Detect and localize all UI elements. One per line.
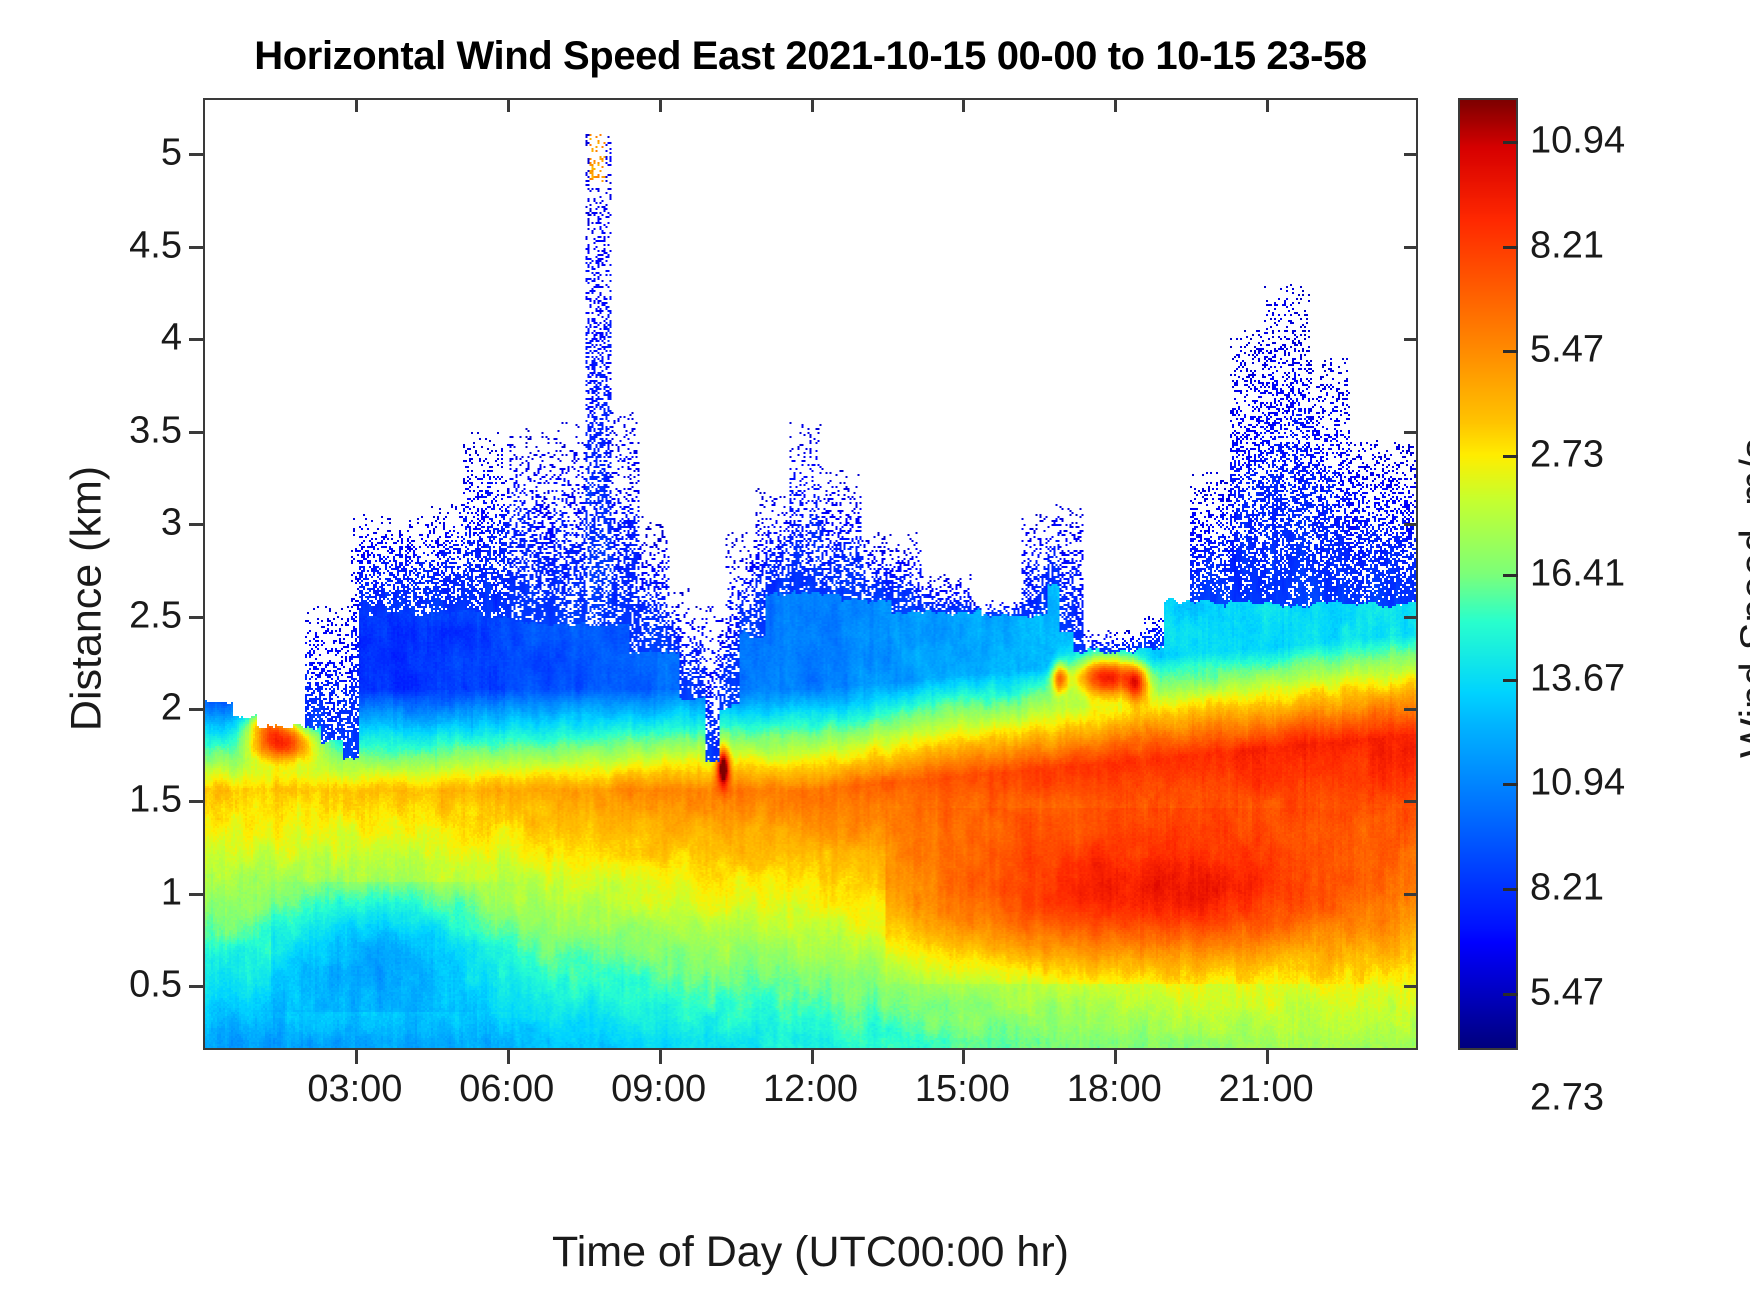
y-tick-mark-right (1404, 800, 1418, 803)
wind-speed-figure: Horizontal Wind Speed East 2021-10-15 00… (0, 0, 1750, 1313)
colorbar-tick-label: 5.47 (1530, 329, 1604, 372)
y-tick-label: 4 (161, 317, 182, 360)
colorbar-tick-label: 16.41 (1530, 553, 1625, 596)
x-axis-title: Time of Day (UTC00:00 hr) (203, 1228, 1418, 1277)
y-tick-mark-right (1404, 708, 1418, 711)
x-tick-label: 09:00 (611, 1068, 706, 1111)
colorbar-tick-mark (1503, 783, 1518, 786)
y-tick-mark (189, 338, 203, 341)
colorbar-tick-label: 10.94 (1530, 119, 1625, 162)
x-tick-label: 18:00 (1067, 1068, 1162, 1111)
colorbar-tick-label: 13.67 (1530, 657, 1625, 700)
x-tick-label: 03:00 (307, 1068, 402, 1111)
y-tick-mark-right (1404, 893, 1418, 896)
y-tick-mark (189, 246, 203, 249)
page-title: Horizontal Wind Speed East 2021-10-15 00… (203, 34, 1418, 79)
y-tick-mark (189, 523, 203, 526)
y-tick-mark (189, 985, 203, 988)
x-tick-mark (962, 1050, 965, 1064)
heatmap-image (205, 100, 1416, 1048)
x-tick-mark (811, 1050, 814, 1064)
x-tick-mark (1114, 1050, 1117, 1064)
x-tick-mark-top (962, 98, 965, 112)
x-tick-mark-top (659, 98, 662, 112)
y-tick-mark-right (1404, 338, 1418, 341)
colorbar-tick-mark (1503, 888, 1518, 891)
plot-axes (203, 98, 1418, 1050)
y-tick-mark-right (1404, 153, 1418, 156)
x-tick-label: 12:00 (763, 1068, 858, 1111)
colorbar-tick-label: 2.73 (1530, 434, 1604, 477)
colorbar-tick-mark (1503, 455, 1518, 458)
colorbar-tick-label: 5.47 (1530, 971, 1604, 1014)
x-tick-label: 06:00 (459, 1068, 554, 1111)
y-tick-label: 3.5 (129, 409, 182, 452)
y-tick-mark (189, 708, 203, 711)
x-tick-label: 15:00 (915, 1068, 1010, 1111)
colorbar-tick-label: 10.94 (1530, 762, 1625, 805)
colorbar-tick-label: 8.21 (1530, 224, 1604, 267)
y-tick-mark (189, 431, 203, 434)
y-tick-label: 2 (161, 687, 182, 730)
x-tick-mark (659, 1050, 662, 1064)
colorbar-tick-label: 2.73 (1530, 1076, 1604, 1119)
y-tick-mark (189, 616, 203, 619)
y-tick-mark-right (1404, 985, 1418, 988)
y-tick-label: 0.5 (129, 964, 182, 1007)
y-tick-label: 5 (161, 132, 182, 175)
colorbar-tick-mark (1503, 574, 1518, 577)
x-tick-mark (1266, 1050, 1269, 1064)
y-tick-label: 3 (161, 502, 182, 545)
y-axis-title: Distance (km) (63, 319, 112, 879)
colorbar-tick-mark (1503, 141, 1518, 144)
y-tick-mark (189, 153, 203, 156)
x-tick-mark-top (507, 98, 510, 112)
colorbar-tick-mark (1503, 679, 1518, 682)
x-tick-mark-top (1114, 98, 1117, 112)
colorbar-tick-mark (1503, 246, 1518, 249)
y-tick-mark (189, 893, 203, 896)
y-tick-mark (189, 800, 203, 803)
y-tick-mark-right (1404, 431, 1418, 434)
colorbar-tick-mark (1503, 993, 1518, 996)
x-tick-label: 21:00 (1219, 1068, 1314, 1111)
x-tick-mark-top (811, 98, 814, 112)
x-tick-mark (355, 1050, 358, 1064)
y-tick-label: 1.5 (129, 779, 182, 822)
y-tick-label: 1 (161, 871, 182, 914)
x-tick-mark-top (355, 98, 358, 112)
y-tick-mark-right (1404, 523, 1418, 526)
colorbar-tick-label: 8.21 (1530, 867, 1604, 910)
y-tick-label: 2.5 (129, 594, 182, 637)
y-tick-mark-right (1404, 246, 1418, 249)
y-tick-label: 4.5 (129, 224, 182, 267)
colorbar-tick-mark (1503, 350, 1518, 353)
x-tick-mark (507, 1050, 510, 1064)
colorbar-title: Wind Speed, m/s (1731, 318, 1750, 878)
y-tick-mark-right (1404, 616, 1418, 619)
x-tick-mark-top (1266, 98, 1269, 112)
